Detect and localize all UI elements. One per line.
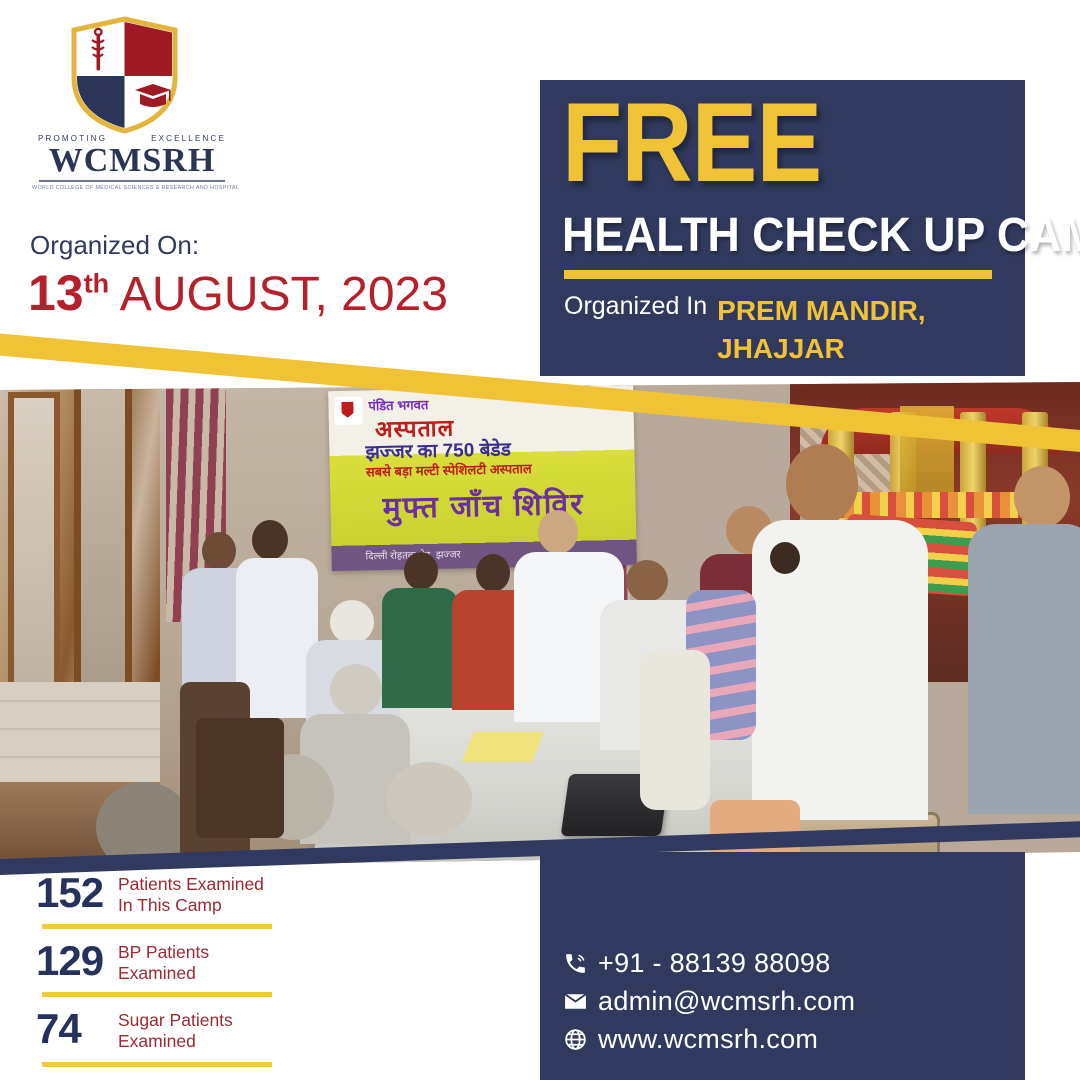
envelope-icon — [560, 988, 590, 1016]
stat-number: 152 — [36, 872, 103, 914]
date-month-year: AUGUST, 2023 — [109, 268, 448, 321]
stat-label: Patients Examined In This Camp — [118, 874, 264, 917]
contact-phone-row[interactable]: +91 - 88139 88098 — [560, 948, 855, 979]
stat-divider — [42, 992, 272, 997]
stat-item: 152 Patients Examined In This Camp — [0, 872, 330, 928]
contact-website-row[interactable]: www.wcmsrh.com — [560, 1024, 855, 1055]
contact-website: www.wcmsrh.com — [598, 1024, 818, 1055]
contact-email: admin@wcmsrh.com — [598, 986, 855, 1017]
organized-in-label: Organized In — [564, 292, 707, 321]
stat-number: 129 — [36, 940, 103, 982]
hospital-banner: पंडित भगवत अस्पताल झज्जर का 750 बेडेड सब… — [328, 385, 637, 571]
banner-line-4: सबसे बड़ा मल्टी स्पेशिलटी अस्पताल — [366, 459, 532, 480]
contact-phone: +91 - 88139 88098 — [598, 948, 831, 979]
stat-label-line1: BP Patients — [118, 942, 209, 962]
brand-logo: PROMOTING EXCELLENCE WCMSRH WORLD COLLEG… — [32, 16, 232, 181]
stats-list: 152 Patients Examined In This Camp 129 B… — [0, 872, 330, 1064]
stat-label-line2: Examined — [118, 1031, 196, 1051]
contact-email-row[interactable]: admin@wcmsrh.com — [560, 986, 855, 1017]
stat-item: 74 Sugar Patients Examined — [0, 1008, 330, 1064]
logo-tagline: WORLD COLLEGE OF MEDICAL SCIENCES & RESE… — [32, 185, 232, 191]
stat-number: 74 — [36, 1008, 81, 1050]
stat-label-line2: In This Camp — [118, 895, 222, 915]
headline-panel: FREE HEALTH CHECK UP CAMP Organized InPR… — [540, 80, 1025, 376]
phone-icon — [560, 950, 590, 978]
venue-name: PREM MANDIR, JHAJJAR — [717, 292, 967, 368]
globe-icon — [560, 1026, 590, 1054]
stat-divider — [42, 924, 272, 929]
stat-label-line1: Sugar Patients — [118, 1010, 233, 1030]
headline-free: FREE — [562, 90, 821, 196]
stat-item: 129 BP Patients Examined — [0, 940, 330, 996]
venue-row: Organized InPREM MANDIR, JHAJJAR — [564, 292, 1004, 368]
logo-divider — [39, 180, 225, 182]
poster-root: PROMOTING EXCELLENCE WCMSRH WORLD COLLEG… — [0, 0, 1080, 1080]
contact-panel: +91 - 88139 88098 admin@wcmsrh.com — [540, 852, 1025, 1080]
shield-icon — [67, 16, 182, 134]
camp-photo: पंडित भगवत अस्पताल झज्जर का 750 बेडेड सब… — [0, 382, 1080, 868]
stat-label-line1: Patients Examined — [118, 874, 264, 894]
date-day-suffix: th — [84, 268, 109, 298]
headline-main: HEALTH CHECK UP CAMP — [562, 212, 1080, 260]
stat-label: BP Patients Examined — [118, 942, 209, 985]
event-date: 13th AUGUST, 2023 — [28, 264, 448, 322]
logo-wordmark: PROMOTING EXCELLENCE WCMSRH WORLD COLLEG… — [32, 134, 232, 191]
stat-label: Sugar Patients Examined — [118, 1010, 233, 1053]
organized-on-label: Organized On: — [30, 230, 199, 261]
stat-divider — [42, 1062, 272, 1067]
logo-acronym: WCMSRH — [32, 144, 232, 178]
headline-underline — [564, 270, 992, 279]
stat-label-line2: Examined — [118, 963, 196, 983]
date-day: 13 — [28, 265, 84, 321]
